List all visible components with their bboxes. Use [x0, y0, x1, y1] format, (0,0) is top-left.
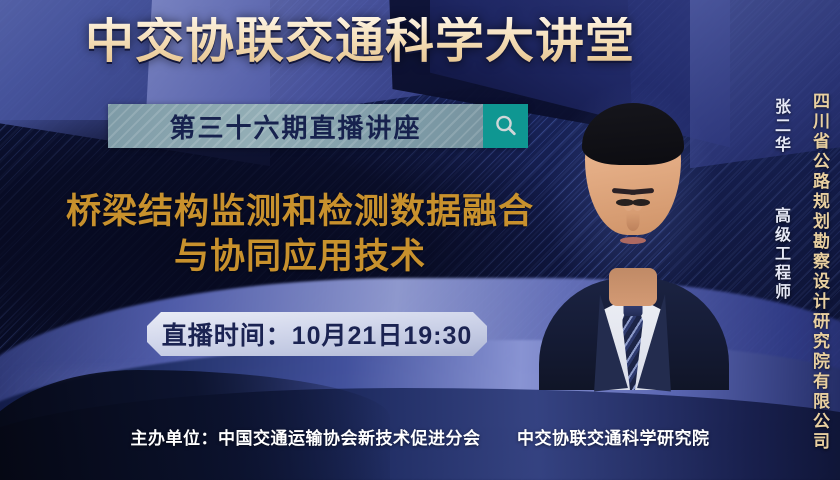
- lecture-topic: 桥梁结构监测和检测数据融合 与协同应用技术: [0, 190, 600, 280]
- live-lecture-poster: 中交协联交通科学大讲堂 第三十六期直播讲座 桥梁结构监测和检测数据融合 与协同应…: [0, 0, 840, 480]
- broadcast-time-label: 直播时间：10月21日19:30: [162, 316, 473, 352]
- topic-line-2: 与协同应用技术: [0, 235, 600, 280]
- topic-line-1: 桥梁结构监测和检测数据融合: [0, 190, 600, 235]
- speaker-organization: 四川省公路规划勘察设计研究院有限公司: [810, 92, 828, 452]
- portrait-mouth: [620, 237, 646, 244]
- portrait-hair: [582, 103, 684, 165]
- page-title: 中交协联交通科学大讲堂: [0, 17, 840, 66]
- portrait-eye-right: [616, 199, 634, 206]
- episode-label: 第三十六期直播讲座: [169, 108, 421, 145]
- speaker-name: 张二华: [772, 98, 789, 155]
- portrait-eyebrow-right: [611, 188, 636, 195]
- search-button[interactable]: [483, 104, 528, 148]
- organizers-footer: 主办单位：中国交通运输协会新技术促进分会 中交协联交通科学研究院: [0, 424, 840, 449]
- episode-banner: 第三十六期直播讲座: [108, 104, 528, 148]
- speaker-info: 张二华 高级工程师: [771, 98, 788, 302]
- portrait-neck: [609, 268, 657, 306]
- episode-banner-fill: 第三十六期直播讲座: [108, 104, 483, 148]
- footer-organizer-primary: 主办单位：中国交通运输协会新技术促进分会: [131, 429, 481, 448]
- footer-organizer-secondary: 中交协联交通科学研究院: [517, 429, 710, 448]
- portrait-eye-left: [632, 199, 650, 206]
- portrait-nose: [626, 213, 639, 231]
- speaker-title: 高级工程师: [772, 207, 789, 302]
- broadcast-time-badge: 直播时间：10月21日19:30: [147, 312, 487, 356]
- search-icon: [493, 113, 519, 139]
